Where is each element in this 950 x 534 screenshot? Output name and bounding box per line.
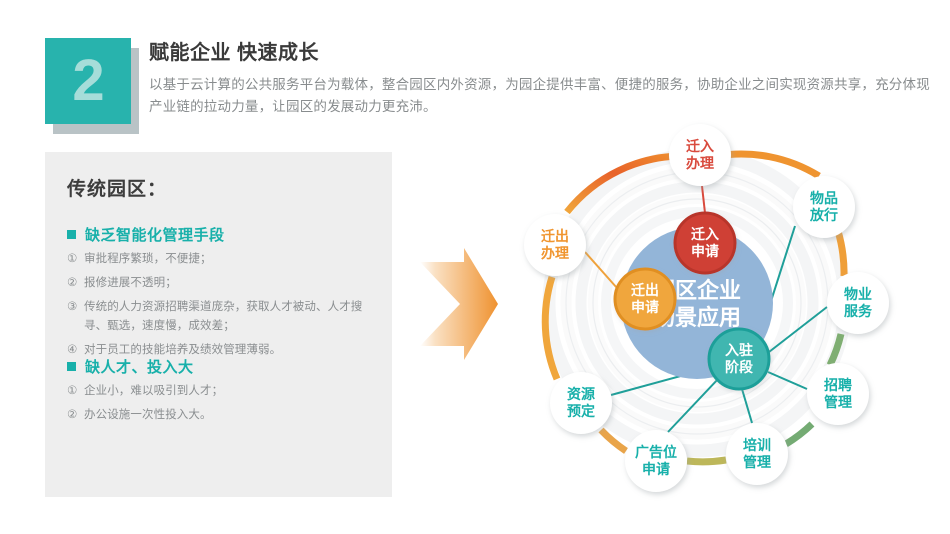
outer-node-label-line1: 物品 bbox=[810, 190, 838, 206]
inner-node-qianru-shenqing[interactable]: 迁入 申请 bbox=[675, 213, 735, 273]
outer-node-wupin-fangxing[interactable]: 物品 放行 bbox=[793, 176, 855, 238]
inner-node-label-line1: 迁出 bbox=[631, 282, 659, 298]
inner-node-qianchu-shenqing[interactable]: 迁出 申请 bbox=[615, 269, 675, 329]
inner-node-label-line2: 申请 bbox=[631, 299, 659, 315]
outer-node-label-line2: 管理 bbox=[743, 454, 771, 470]
scenario-diagram: 园区企业 场景应用 迁入 申请 迁出 申请 入驻 阶段 bbox=[0, 0, 950, 534]
outer-node-ziyuan-yuding[interactable]: 资源 预定 bbox=[550, 372, 612, 434]
outer-node-peixun-guanli[interactable]: 培训 管理 bbox=[726, 423, 788, 485]
outer-node-label-line1: 招聘 bbox=[824, 377, 852, 393]
outer-node-label-line2: 办理 bbox=[686, 155, 714, 171]
outer-node-wuye-fuwu[interactable]: 物业 服务 bbox=[827, 272, 889, 334]
outer-node-label-line2: 办理 bbox=[541, 245, 569, 261]
outer-node-label-line2: 申请 bbox=[642, 461, 670, 477]
outer-node-guanggaowei-shenqing[interactable]: 广告位 申请 bbox=[625, 430, 687, 492]
outer-node-label-line2: 预定 bbox=[567, 403, 595, 419]
inner-node-label-line2: 申请 bbox=[691, 243, 719, 259]
outer-node-label-line2: 放行 bbox=[809, 207, 838, 223]
outer-node-label-line1: 物业 bbox=[844, 286, 872, 302]
outer-node-label-line1: 广告位 bbox=[635, 444, 677, 460]
inner-node-label-line1: 迁入 bbox=[691, 226, 719, 242]
outer-node-label-line1: 迁入 bbox=[686, 138, 714, 154]
outer-node-zhaopin-guanli[interactable]: 招聘 管理 bbox=[807, 363, 869, 425]
outer-node-label-line2: 管理 bbox=[824, 394, 852, 410]
outer-node-label-line1: 迁出 bbox=[541, 228, 569, 244]
slide-root: 2 赋能企业 快速成长 以基于云计算的公共服务平台为载体，整合园区内外资源，为园… bbox=[0, 0, 950, 534]
inner-node-ruzhu-jieduan[interactable]: 入驻 阶段 bbox=[709, 329, 769, 389]
outer-node-label-line1: 培训 bbox=[743, 437, 771, 453]
outer-node-label-line2: 服务 bbox=[844, 303, 873, 319]
outer-node-label-line1: 资源 bbox=[567, 386, 595, 402]
inner-node-label-line2: 阶段 bbox=[725, 359, 753, 375]
outer-node-qianru-banli[interactable]: 迁入 办理 bbox=[669, 124, 731, 186]
inner-node-label-line1: 入驻 bbox=[725, 342, 753, 358]
outer-node-qianchu-banli[interactable]: 迁出 办理 bbox=[524, 214, 586, 276]
